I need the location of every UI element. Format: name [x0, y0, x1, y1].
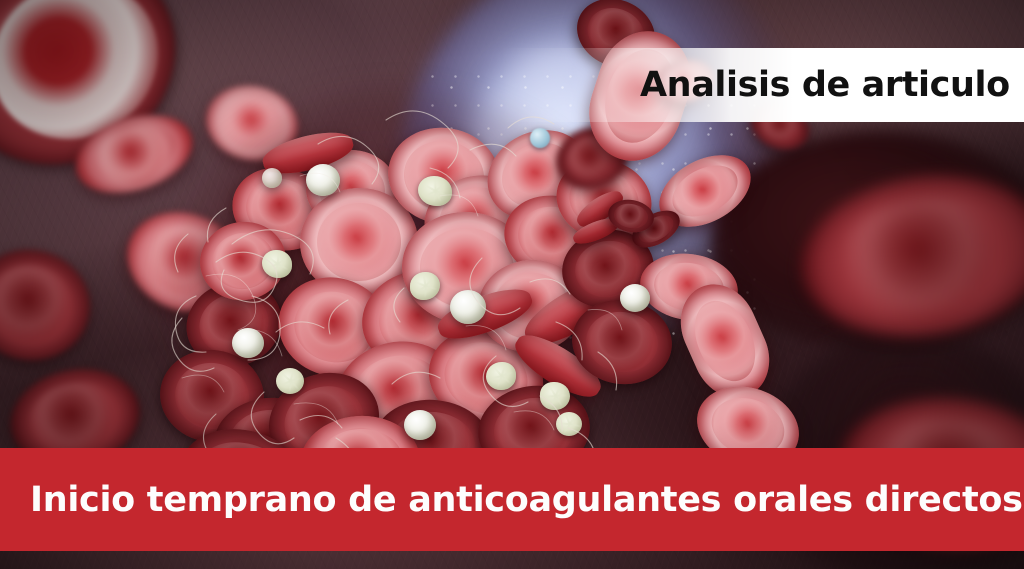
title-banner: Inicio temprano de anticoagulantes orale…: [0, 448, 1024, 551]
kicker-banner: Analisis de articulo: [500, 48, 1024, 122]
kicker-label: Analisis de articulo: [640, 65, 1010, 105]
slide-title: Inicio temprano de anticoagulantes orale…: [0, 480, 1023, 520]
slide-canvas: Analisis de articulo Inicio temprano de …: [0, 0, 1024, 569]
